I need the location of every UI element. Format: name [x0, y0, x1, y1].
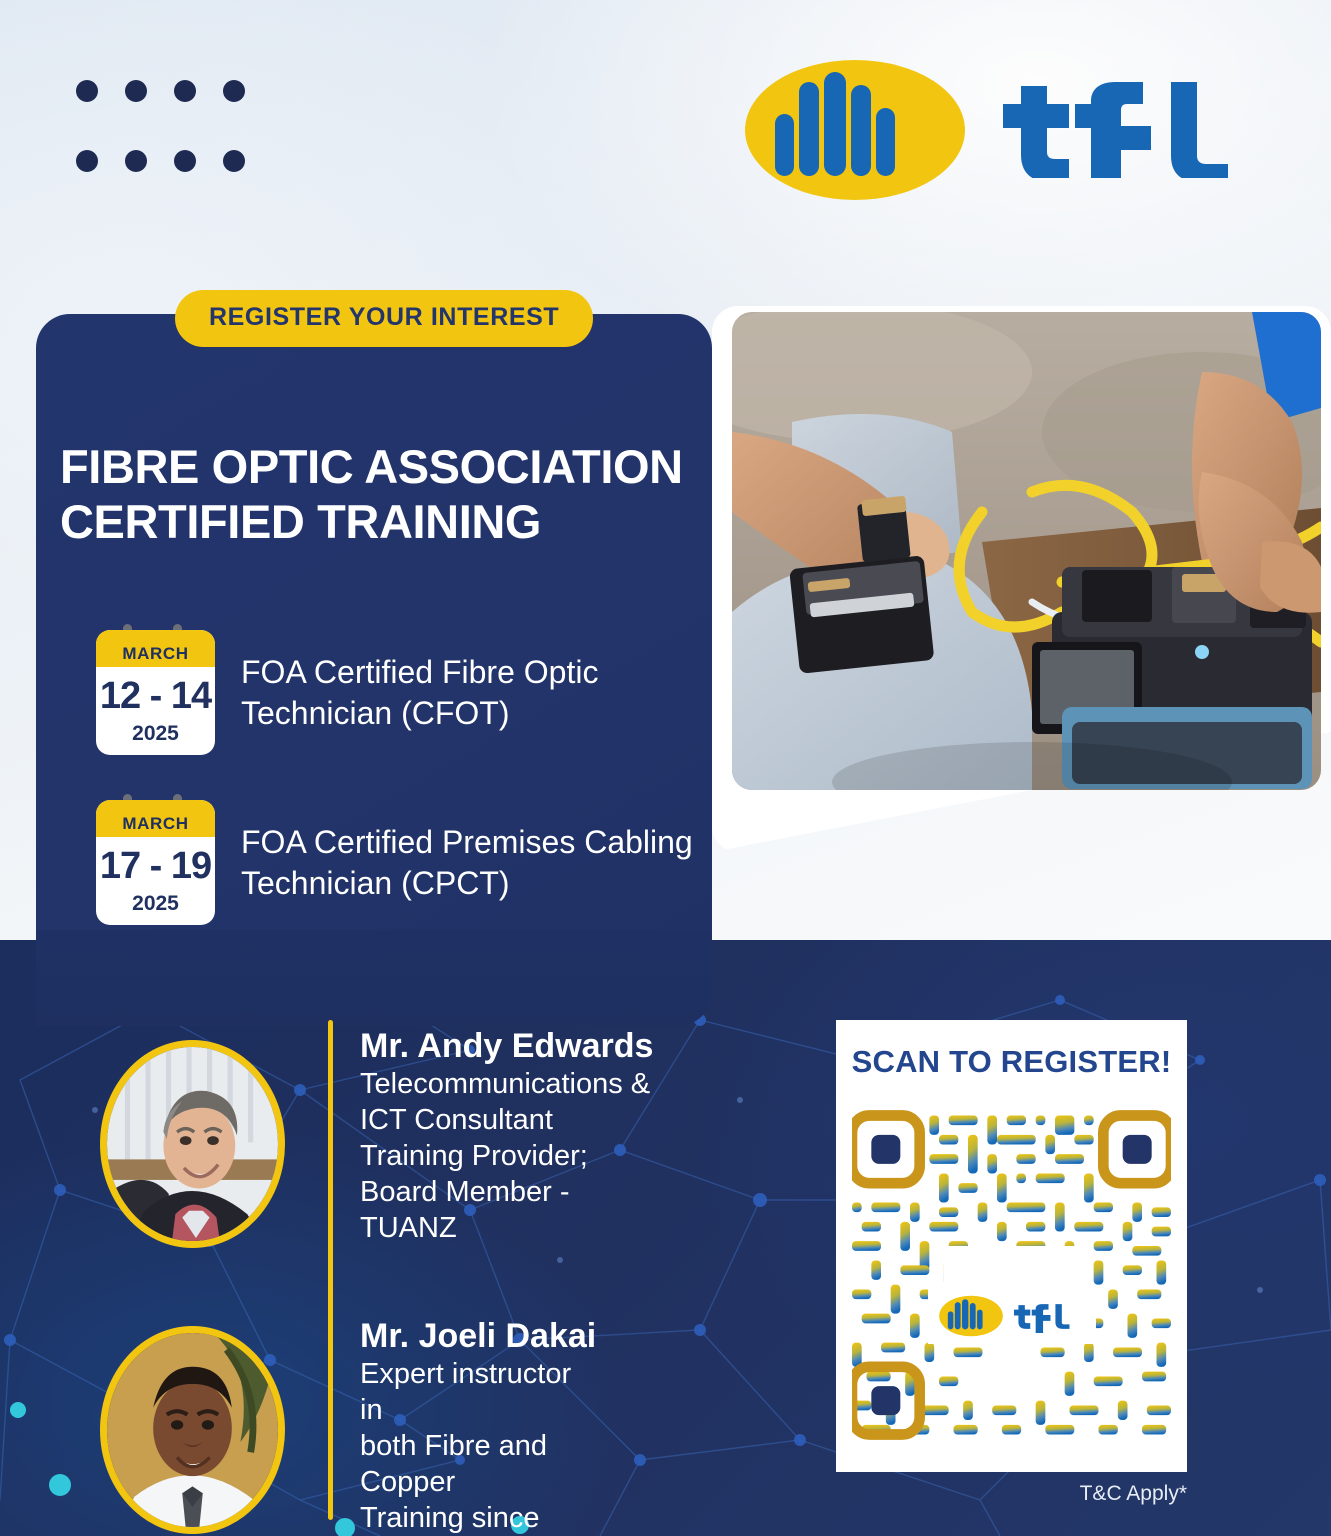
calendar-icon: MARCH 17 - 19 2025: [96, 800, 215, 925]
course-title: FOA Certified Fibre Optic Technician (CF…: [241, 652, 711, 734]
headline-line-2: CERTIFIED TRAINING: [60, 495, 700, 550]
tfl-wordmark-icon: [1012, 1299, 1086, 1333]
tfl-logo-mark-icon: [938, 1294, 1004, 1338]
speaker-role-line: Training since 1997: [360, 1501, 596, 1536]
fibre-splicing-photo: [732, 312, 1321, 790]
speaker-avatar: [100, 1326, 285, 1534]
main-info-card-extension: [36, 930, 712, 1026]
poster-root: REGISTER YOUR INTEREST FIBRE OPTIC ASSOC…: [0, 0, 1331, 1536]
qr-code[interactable]: [852, 1104, 1171, 1446]
speaker-name: Mr. Andy Edwards: [360, 1028, 653, 1065]
headline-line-1: FIBRE OPTIC ASSOCIATION: [60, 440, 700, 495]
qr-card[interactable]: SCAN TO REGISTER!: [836, 1020, 1187, 1472]
calendar-year: 2025: [96, 892, 215, 925]
calendar-icon: MARCH 12 - 14 2025: [96, 630, 215, 755]
calendar-year: 2025: [96, 722, 215, 755]
speaker-info: Mr. Andy Edwards Telecommunications & IC…: [360, 1028, 653, 1247]
course-row: MARCH 12 - 14 2025 FOA Certified Fibre O…: [96, 630, 711, 755]
speaker-divider: [328, 1020, 333, 1520]
speaker-avatar: [100, 1040, 285, 1248]
register-interest-badge[interactable]: REGISTER YOUR INTEREST: [175, 290, 593, 347]
speaker-info: Mr. Joeli Dakai Expert instructor in bot…: [360, 1318, 596, 1536]
page-title: FIBRE OPTIC ASSOCIATION CERTIFIED TRAINI…: [60, 440, 700, 549]
speaker-role-line: Telecommunications &: [360, 1067, 653, 1103]
speaker-role-line: both Fibre and Copper: [360, 1429, 596, 1501]
tfl-logo: [741, 56, 1295, 204]
speaker-role-line: ICT Consultant: [360, 1103, 653, 1139]
terms-note: T&C Apply*: [1080, 1482, 1187, 1506]
calendar-month: MARCH: [96, 800, 215, 837]
calendar-month: MARCH: [96, 630, 215, 667]
speaker-role-line: Board Member - TUANZ: [360, 1175, 653, 1247]
speaker-role-line: Expert instructor in: [360, 1357, 596, 1429]
calendar-days: 12 - 14: [96, 667, 215, 722]
qr-title: SCAN TO REGISTER!: [836, 1044, 1187, 1080]
qr-center-logo-icon: [928, 1288, 1096, 1344]
tfl-wordmark-icon: [995, 82, 1295, 178]
tfl-logo-mark-icon: [741, 56, 969, 204]
speaker-name: Mr. Joeli Dakai: [360, 1318, 596, 1355]
course-title: FOA Certified Premises Cabling Technicia…: [241, 822, 711, 904]
calendar-days: 17 - 19: [96, 837, 215, 892]
speaker-role-line: Training Provider;: [360, 1139, 653, 1175]
dot-grid-icon: [76, 80, 246, 172]
course-row: MARCH 17 - 19 2025 FOA Certified Premise…: [96, 800, 711, 925]
